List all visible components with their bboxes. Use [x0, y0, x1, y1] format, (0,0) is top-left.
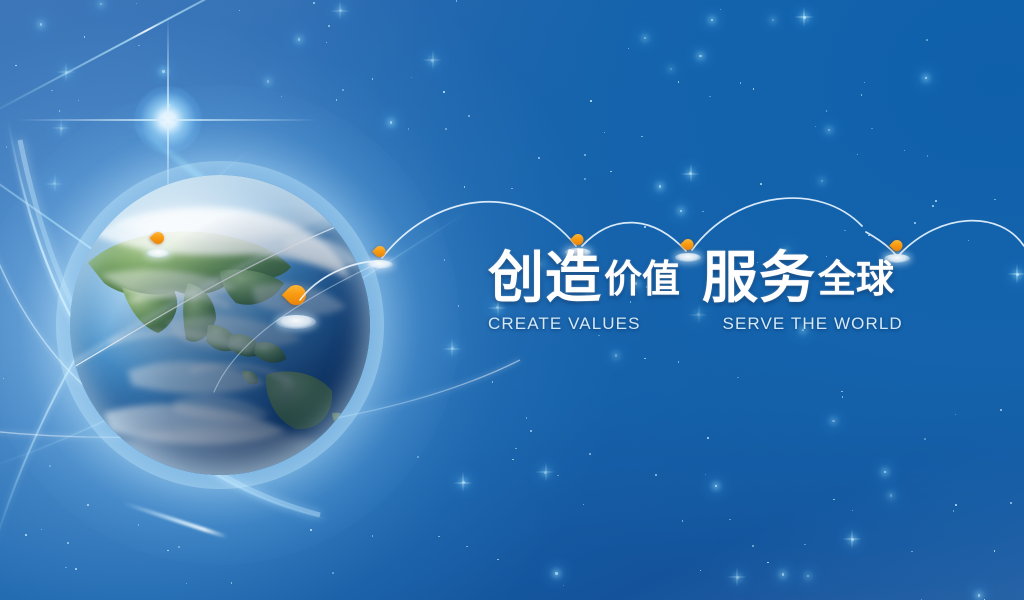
star-dot: [239, 10, 241, 12]
star-dot: [604, 132, 606, 134]
star-dot: [100, 3, 102, 5]
star-dot: [598, 335, 600, 337]
headline-phrase2-large: 服务: [702, 250, 816, 308]
star-dot: [821, 180, 823, 182]
star-dot: [411, 77, 413, 79]
star-dot: [737, 377, 739, 379]
headline-phrase1-large: 创造: [488, 250, 602, 308]
star-dot: [736, 576, 739, 579]
banner-stage: 创造 价值 服务 全球 CREATE VALUES SERVE THE WORL…: [0, 0, 1024, 600]
star-dot: [926, 39, 928, 41]
star-dot: [705, 474, 707, 476]
star-dot: [682, 520, 684, 522]
star-dot: [557, 475, 559, 477]
star-dot: [994, 550, 996, 552]
star-dot: [851, 538, 854, 541]
star-dot: [955, 504, 957, 506]
star-dot: [589, 453, 591, 455]
star-dot: [953, 510, 955, 512]
star-dot: [841, 391, 843, 393]
star-dot: [641, 136, 643, 138]
star-dot: [804, 544, 806, 546]
star-dot: [78, 100, 80, 102]
star-dot: [644, 37, 646, 39]
star-dot: [138, 45, 140, 47]
subtitle-serve-the-world: SERVE THE WORLD: [723, 314, 903, 334]
star-dot: [40, 23, 42, 25]
star-dot: [408, 128, 410, 130]
star-dot: [699, 55, 701, 57]
star-dot: [890, 494, 892, 496]
headline-phrase2-small: 全球: [818, 250, 894, 308]
star-dot: [932, 205, 934, 207]
star-dot: [313, 2, 315, 4]
star-dot: [339, 9, 342, 12]
star-dot: [445, 128, 447, 130]
star-dot: [136, 3, 138, 5]
star-dot: [1016, 273, 1019, 276]
star-dot: [700, 570, 702, 572]
subtitle-create-values: CREATE VALUES: [488, 314, 641, 334]
star-dot: [861, 94, 863, 96]
star-dot: [615, 354, 617, 356]
star-dot: [186, 583, 188, 585]
star-dot: [466, 546, 468, 548]
star-dot: [1000, 409, 1002, 411]
star-dot: [25, 534, 27, 536]
star-dot: [15, 65, 17, 67]
star-dot: [644, 226, 646, 228]
star-dot: [852, 510, 854, 512]
star-dot: [782, 573, 784, 575]
star-dot: [826, 110, 828, 112]
star-dot: [702, 211, 704, 213]
star-dot: [772, 19, 774, 21]
star-dot: [67, 542, 69, 544]
star-dot: [815, 126, 817, 128]
star-dot: [924, 438, 926, 440]
star-dot: [644, 358, 646, 360]
star-dot: [342, 89, 344, 91]
star-dot: [456, 0, 458, 2]
star-dot: [584, 178, 586, 180]
star-dot: [75, 568, 77, 570]
star-dot: [871, 128, 873, 130]
star-dot: [832, 420, 834, 422]
subtitle-row: CREATE VALUES SERVE THE WORLD: [488, 314, 918, 334]
star-dot: [659, 185, 661, 187]
star-dot: [267, 80, 269, 82]
headline-line: 创造 价值 服务 全球: [488, 250, 918, 308]
star-dot: [729, 519, 731, 521]
star-dot: [689, 172, 692, 175]
star-dot: [555, 572, 557, 574]
star-dot: [968, 240, 970, 242]
star-dot: [740, 82, 742, 84]
star-dot: [65, 71, 68, 74]
star-dot: [298, 38, 300, 40]
star-dot: [807, 575, 809, 577]
star-dot: [332, 572, 334, 574]
star-dot: [753, 88, 755, 90]
star-dot: [538, 157, 540, 159]
star-dot: [372, 535, 374, 537]
star-dot: [326, 42, 328, 44]
headline-block: 创造 价值 服务 全球 CREATE VALUES SERVE THE WORL…: [488, 250, 918, 334]
star-dot: [84, 36, 86, 38]
star-dot: [590, 100, 592, 102]
star-dot: [978, 594, 980, 596]
star-dot: [864, 82, 866, 84]
star-dot: [515, 448, 517, 450]
star-dot: [844, 230, 846, 232]
star-dot: [51, 90, 53, 92]
star-dot: [563, 585, 565, 587]
star-dot: [678, 81, 680, 83]
star-dot: [526, 417, 528, 419]
star-dot: [935, 200, 937, 202]
pin-drop-icon: [570, 232, 586, 248]
star-dot: [336, 99, 338, 101]
star-dot: [994, 199, 996, 201]
star-dot: [711, 19, 713, 21]
star-dot: [707, 437, 709, 439]
star-dot: [390, 121, 392, 123]
star-dot: [431, 59, 434, 62]
star-dot: [65, 567, 67, 569]
star-dot: [904, 150, 906, 152]
star-dot: [512, 459, 514, 461]
star-dot: [884, 471, 886, 473]
star-dot: [955, 414, 957, 416]
star-dot: [584, 154, 586, 156]
star-dot: [511, 188, 513, 190]
star-dot: [464, 186, 466, 188]
star-dot: [911, 551, 913, 553]
star-dot: [833, 499, 835, 501]
star-dot: [925, 77, 927, 79]
star-dot: [767, 562, 769, 564]
star-dot: [59, 110, 61, 112]
star-dot: [372, 78, 374, 80]
earth-globe: [70, 175, 370, 475]
star-dot: [162, 70, 164, 72]
star-dot: [720, 9, 722, 11]
star-dot: [670, 68, 672, 70]
star-dot: [842, 396, 844, 398]
star-dot: [583, 504, 585, 506]
star-dot: [328, 25, 330, 27]
star-dot: [1010, 502, 1012, 504]
star-dot: [857, 154, 859, 156]
star-dot: [438, 536, 440, 538]
star-dot: [752, 545, 754, 547]
globe-atmosphere: [56, 161, 384, 489]
star-dot: [497, 559, 499, 561]
star-dot: [927, 155, 929, 157]
star-dot: [468, 115, 470, 117]
star-dot: [828, 129, 830, 131]
star-dot: [760, 183, 762, 185]
star-dot: [492, 381, 494, 383]
star-dot: [60, 127, 63, 130]
star-dot: [803, 16, 806, 19]
headline-phrase1-small: 价值: [604, 250, 680, 308]
star-dot: [231, 582, 233, 584]
star-dot: [530, 430, 532, 432]
star-dot: [41, 529, 43, 531]
star-dot: [655, 474, 657, 476]
star-dot: [610, 171, 612, 173]
star-dot: [443, 91, 445, 93]
star-dot: [462, 481, 465, 484]
star-dot: [6, 146, 8, 148]
star-dot: [914, 222, 916, 224]
star-dot: [709, 96, 711, 98]
star-dot: [628, 48, 630, 50]
star-dot: [715, 485, 717, 487]
star-dot: [678, 361, 680, 363]
star-dot: [868, 235, 870, 237]
star-dot: [680, 210, 682, 212]
star-dot: [544, 471, 547, 474]
